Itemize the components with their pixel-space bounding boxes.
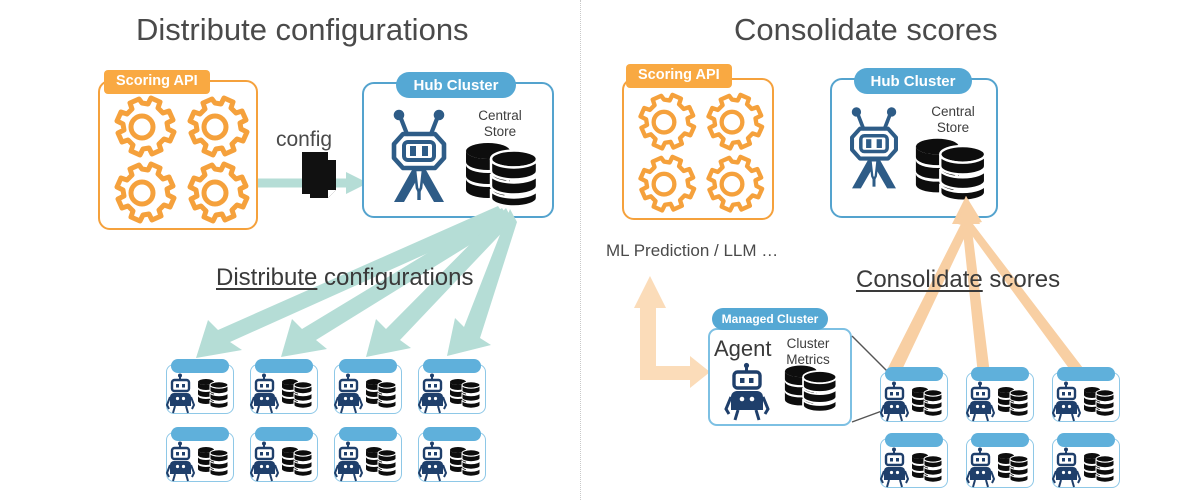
right-gear-icon-group bbox=[628, 92, 770, 214]
node-icons bbox=[1053, 381, 1121, 423]
documents-icon bbox=[298, 148, 342, 204]
node-header-bar bbox=[1057, 367, 1115, 381]
node-icons bbox=[335, 373, 403, 415]
right-central-store-caption: Central Store bbox=[910, 104, 996, 135]
node-icons bbox=[881, 381, 949, 423]
gear-icon bbox=[709, 95, 763, 149]
node-header-bar bbox=[1057, 433, 1115, 447]
node-icons bbox=[251, 441, 319, 483]
database-stack-icon bbox=[462, 140, 542, 208]
node-card[interactable] bbox=[166, 432, 234, 482]
diagram-canvas: Distribute configurations Scoring API bbox=[0, 0, 1200, 500]
node-icons bbox=[167, 441, 235, 483]
left-subtitle: Distribute configurations bbox=[216, 264, 473, 292]
left-panel-title: Distribute configurations bbox=[136, 12, 469, 48]
node-header-bar bbox=[885, 433, 943, 447]
gear-icon bbox=[641, 157, 695, 211]
node-header-bar bbox=[339, 359, 397, 373]
node-header-bar bbox=[971, 433, 1029, 447]
agent-caption: Agent bbox=[714, 336, 772, 362]
node-icons bbox=[419, 441, 487, 483]
right-hub-cluster-label: Hub Cluster bbox=[854, 68, 972, 94]
node-icons bbox=[967, 447, 1035, 489]
node-header-bar bbox=[255, 427, 313, 441]
node-header-bar bbox=[255, 359, 313, 373]
node-card[interactable] bbox=[418, 432, 486, 482]
node-card[interactable] bbox=[880, 372, 948, 422]
node-header-bar bbox=[971, 367, 1029, 381]
managed-cluster-label: Managed Cluster bbox=[712, 308, 828, 330]
right-scoring-api-label: Scoring API bbox=[626, 64, 732, 88]
node-card[interactable] bbox=[1052, 438, 1120, 488]
node-header-bar bbox=[423, 427, 481, 441]
left-scoring-api-label: Scoring API bbox=[104, 70, 210, 94]
ml-prediction-label: ML Prediction / LLM … bbox=[606, 241, 778, 261]
database-stack-icon bbox=[198, 379, 228, 408]
node-icons bbox=[251, 373, 319, 415]
left-subtitle-rest: configurations bbox=[317, 264, 473, 291]
left-hub-cluster-label: Hub Cluster bbox=[396, 72, 516, 98]
node-card[interactable] bbox=[966, 438, 1034, 488]
node-card[interactable] bbox=[166, 364, 234, 414]
node-header-bar bbox=[339, 427, 397, 441]
node-header-bar bbox=[171, 359, 229, 373]
node-card[interactable] bbox=[418, 364, 486, 414]
node-card[interactable] bbox=[334, 432, 402, 482]
node-card[interactable] bbox=[334, 364, 402, 414]
node-icons bbox=[881, 447, 949, 489]
node-card[interactable] bbox=[250, 432, 318, 482]
node-header-bar bbox=[171, 427, 229, 441]
database-stack-icon bbox=[782, 362, 840, 414]
gear-icon bbox=[117, 98, 174, 155]
node-card[interactable] bbox=[250, 364, 318, 414]
robot-icon bbox=[845, 104, 903, 192]
node-card[interactable] bbox=[880, 438, 948, 488]
node-card[interactable] bbox=[966, 372, 1034, 422]
panel-divider bbox=[580, 0, 581, 500]
database-stack-icon bbox=[912, 135, 990, 203]
gear-icon bbox=[641, 95, 695, 149]
node-card[interactable] bbox=[1052, 372, 1120, 422]
robot-icon bbox=[386, 108, 452, 204]
node-icons bbox=[167, 373, 235, 415]
right-subtitle-rest: scores bbox=[983, 266, 1060, 293]
right-subtitle: Consolidate scores bbox=[856, 266, 1060, 294]
node-icons bbox=[1053, 447, 1121, 489]
ml-loop-arrow bbox=[628, 276, 710, 396]
gear-icon bbox=[709, 157, 763, 211]
node-icons bbox=[419, 373, 487, 415]
left-subtitle-underlined: Distribute bbox=[216, 264, 317, 291]
node-header-bar bbox=[423, 359, 481, 373]
gear-icon bbox=[190, 98, 247, 155]
node-icons bbox=[335, 441, 403, 483]
node-header-bar bbox=[885, 367, 943, 381]
right-subtitle-underlined: Consolidate bbox=[856, 266, 983, 293]
left-central-store-caption: Central Store bbox=[455, 108, 545, 139]
robot-small-icon bbox=[726, 364, 768, 422]
node-icons bbox=[967, 381, 1035, 423]
robot-icon bbox=[167, 374, 194, 414]
right-panel-title: Consolidate scores bbox=[734, 12, 998, 48]
